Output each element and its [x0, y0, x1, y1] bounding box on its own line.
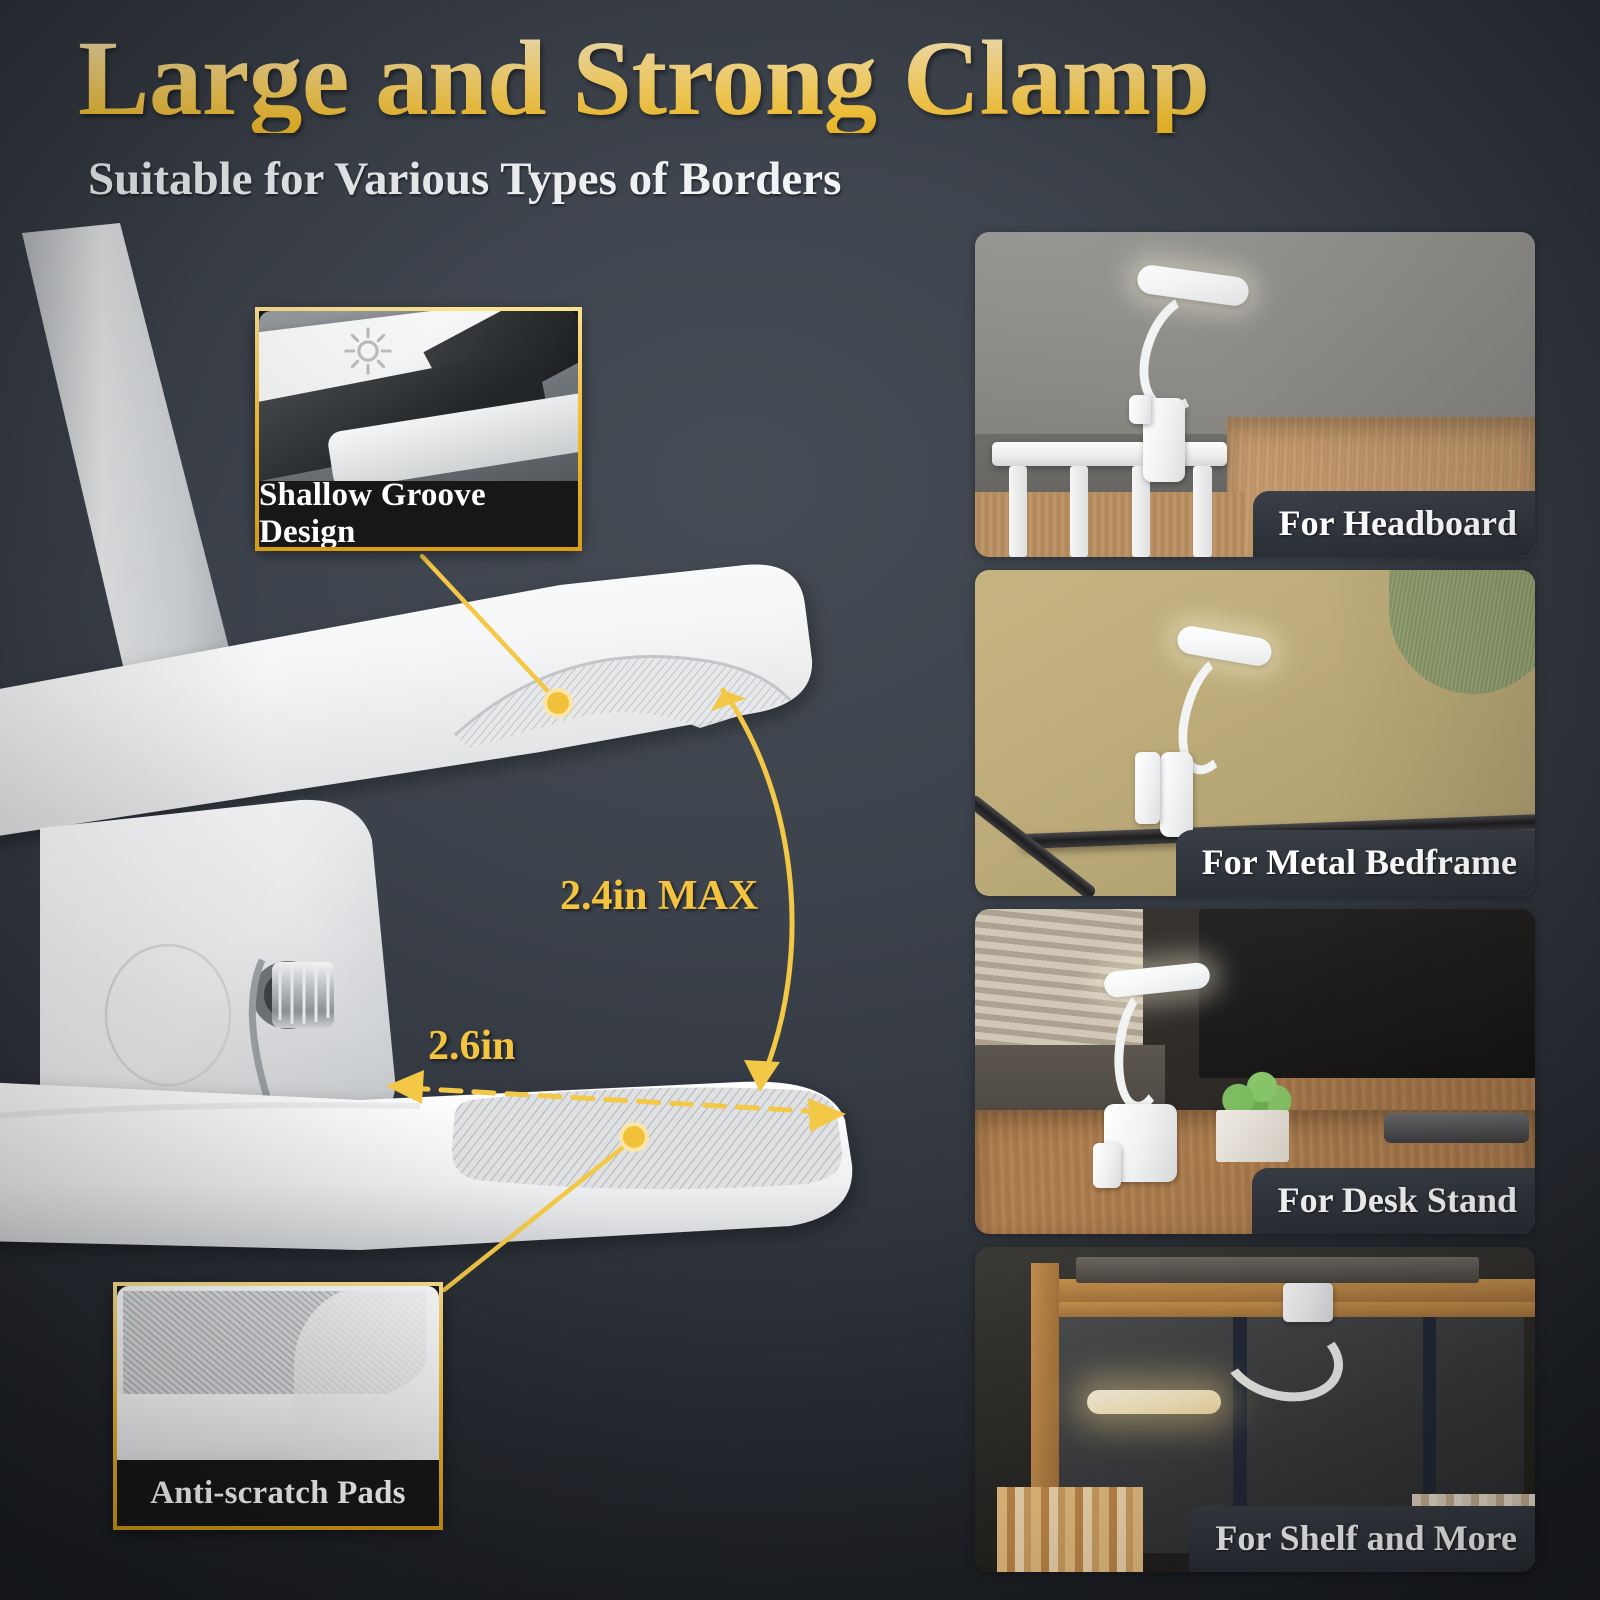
page-subtitle: Suitable for Various Types of Borders [88, 152, 841, 206]
sun-brightness-icon [342, 325, 394, 377]
callout-groove-caption: Shallow Groove Design [259, 481, 578, 547]
callout-anti-scratch-pads: Anti-scratch Pads [113, 1282, 443, 1530]
use-case-panel-list: For Headboard For Metal Bedframe [975, 232, 1535, 1572]
panel-label-headboard: For Headboard [1253, 491, 1535, 557]
measure-clamp-opening: 2.4in MAX [560, 872, 758, 920]
page-title: Large and Strong Clamp [78, 26, 1209, 133]
callout-pads-image [117, 1286, 439, 1460]
measure-pad-depth: 2.6in [428, 1022, 516, 1070]
panel-label-metal-bedframe: For Metal Bedframe [1176, 830, 1535, 896]
use-case-panel-desk-stand[interactable]: For Desk Stand [975, 909, 1535, 1234]
panel-label-desk-stand: For Desk Stand [1252, 1168, 1535, 1234]
use-case-panel-headboard[interactable]: For Headboard [975, 232, 1535, 557]
callout-pads-caption: Anti-scratch Pads [117, 1460, 439, 1526]
callout-shallow-groove: Shallow Groove Design [255, 307, 582, 551]
callout-groove-image [259, 311, 578, 481]
panel-label-shelf-and-more: For Shelf and More [1189, 1506, 1535, 1572]
use-case-panel-metal-bedframe[interactable]: For Metal Bedframe [975, 570, 1535, 895]
use-case-panel-shelf-and-more[interactable]: For Shelf and More [975, 1247, 1535, 1572]
infographic-root: Large and Strong Clamp Suitable for Vari… [0, 0, 1600, 1600]
